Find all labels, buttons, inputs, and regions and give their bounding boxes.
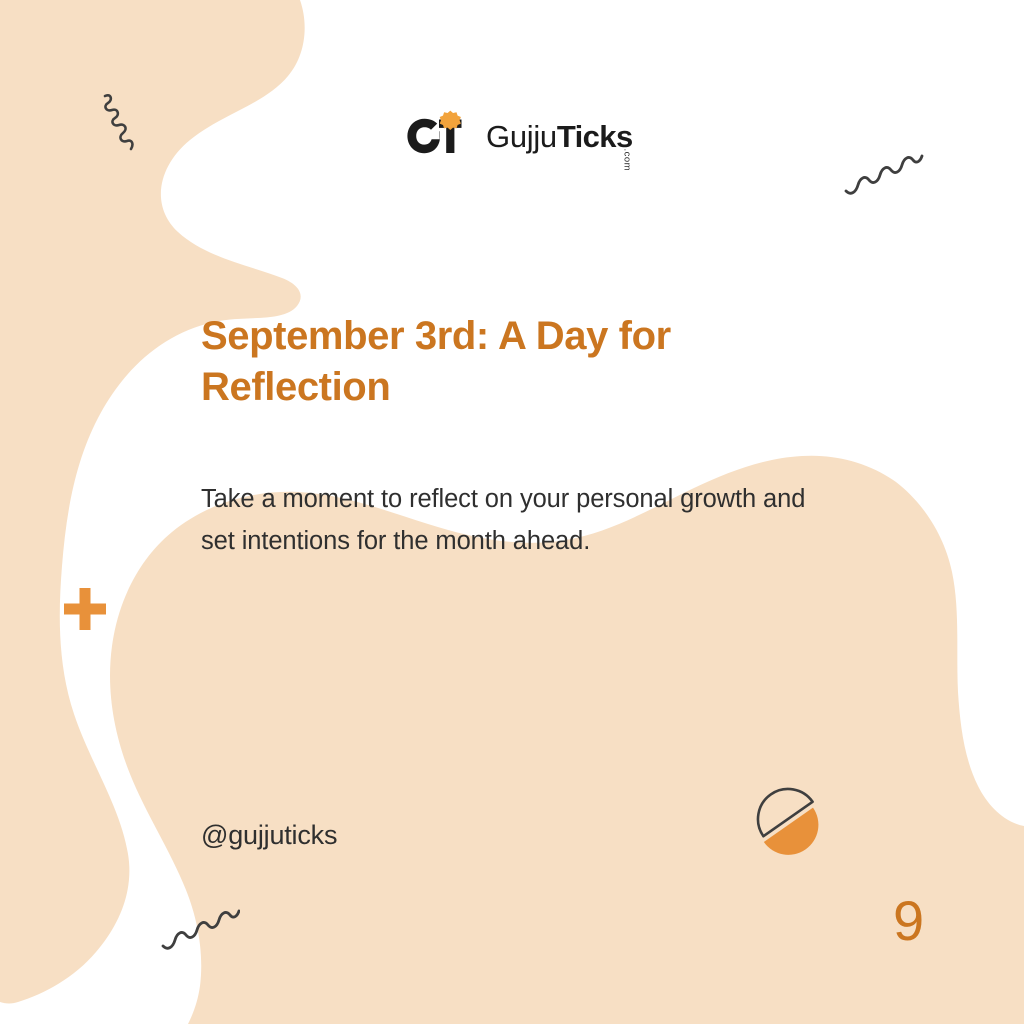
wordmark-bold-part: Ticks xyxy=(557,121,633,152)
poster-canvas: Gujju Ticks .com September 3rd: A Day fo… xyxy=(0,0,1024,1024)
wordmark-light-part: Gujju xyxy=(486,121,557,152)
body-paragraph: Take a moment to reflect on your persona… xyxy=(201,479,826,563)
brand-logo[interactable]: Gujju Ticks .com xyxy=(406,108,633,164)
brand-wordmark: Gujju Ticks .com xyxy=(486,121,633,152)
plus-mark-icon xyxy=(62,586,108,632)
split-circle-icon xyxy=(753,786,823,856)
gt-monogram-with-flower-icon xyxy=(406,110,474,162)
squiggle-bottom-left-icon xyxy=(160,893,240,951)
page-number: 9 xyxy=(893,893,924,949)
squiggle-top-right-icon xyxy=(843,138,925,196)
page-title: September 3rd: A Day for Reflection xyxy=(201,311,801,413)
wordmark-tld: .com xyxy=(622,149,632,172)
squiggle-top-left-icon xyxy=(100,92,158,154)
social-handle: @gujjuticks xyxy=(201,820,337,851)
